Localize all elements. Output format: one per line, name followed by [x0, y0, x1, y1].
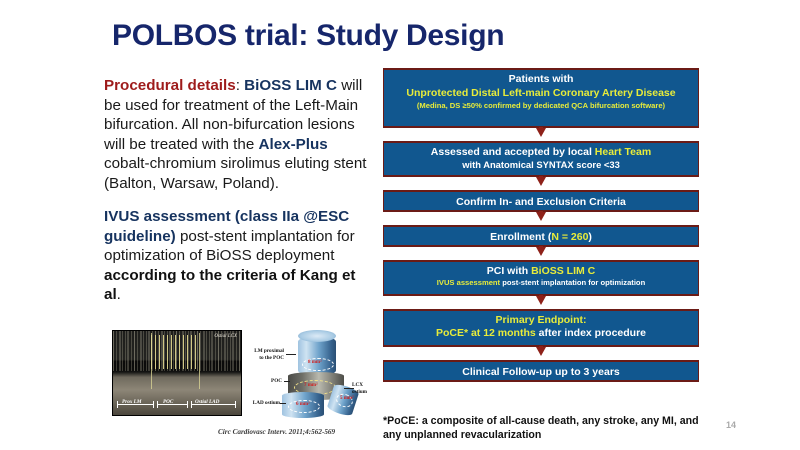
ivus-ruler-label-poc: POC [163, 399, 173, 405]
diagram-label-lcx-ostium: LCX ostium [352, 382, 378, 395]
flow-box-patients-with[interactable]: Patients with Unprotected Distal Left-ma… [383, 68, 699, 128]
slide-canvas: POLBOS trial: Study Design Procedural de… [0, 0, 800, 450]
paragraph-procedural-details: Procedural details: BiOSS LIM C will be … [104, 76, 372, 193]
flow-box-primary-endpoint[interactable]: Primary Endpoint: PoCE* at 12 months aft… [383, 309, 699, 347]
lumen-area-lad: 6 mm² [296, 402, 310, 407]
procedural-text-b: cobalt-chromium sirolimus eluting stent … [104, 155, 367, 192]
flow-line-primary-endpoint: Primary Endpoint: [388, 314, 694, 327]
label-separator: : [236, 77, 244, 94]
figure-citation: Circ Cardiovasc Interv. 2011;4:562-569 [218, 428, 388, 436]
flow-box-pci-bioss[interactable]: PCI with BiOSS LIM C IVUS assessment pos… [383, 260, 699, 296]
lumen-area-lcx: 5 mm² [340, 396, 354, 401]
figure-ivus-bifurcation: Ostial LCX Prox LM POC Ostial LAD 8 mm² [112, 330, 374, 450]
bifurcation-3d-diagram: 8 mm² 7 mm² 6 mm² 5 mm² LM proximalto th… [246, 330, 374, 420]
flow-arrow-5 [383, 296, 699, 309]
poce-text: PoCE* at 12 months [436, 327, 539, 339]
flow-line-pci: PCI with BiOSS LIM C [388, 265, 694, 278]
kang-criteria-emphasis: according to the criteria of Kang et al [104, 267, 355, 304]
enrollment-paren: ) [588, 231, 592, 243]
pci-device: BiOSS LIM C [531, 265, 595, 277]
lumen-area-poc: 7 mm² [304, 383, 318, 388]
flow-line-medina: (Medina, DS ≥50% confirmed by dedicated … [388, 101, 694, 111]
paragraph-ivus-assessment: IVUS assessment (class IIa @ESC guidelin… [104, 207, 372, 305]
flow-line-poce: PoCE* at 12 months after index procedure [388, 327, 694, 340]
ivus-longitudinal-image: Ostial LCX Prox LM POC Ostial LAD [112, 330, 242, 416]
ivus-ruler-label-prox-lm: Prox LM [122, 399, 141, 405]
flow-box-heart-team[interactable]: Assessed and accepted by local Heart Tea… [383, 141, 699, 177]
ivus-text-b: . [117, 286, 121, 303]
left-text-block: Procedural details: BiOSS LIM C will be … [104, 76, 372, 319]
ivus-stent-struts [151, 335, 199, 369]
page-number: 14 [726, 420, 736, 430]
procedural-details-label: Procedural details [104, 77, 236, 94]
flow-box-clinical-followup[interactable]: Clinical Follow-up up to 3 years [383, 360, 699, 382]
pci-text: PCI with [487, 265, 531, 277]
flow-box-confirm-criteria[interactable]: Confirm In- and Exclusion Criteria [383, 190, 699, 212]
ivus-ruler: Prox LM POC Ostial LAD [117, 400, 237, 412]
flow-arrow-1 [383, 128, 699, 141]
ivus-label-ostial-lcx: Ostial LCX [214, 334, 237, 339]
lumen-area-lm: 8 mm² [308, 360, 322, 365]
flow-line-syntax: with Anatomical SYNTAX score <33 [388, 159, 694, 171]
flow-arrow-4 [383, 247, 699, 260]
ivus-marker-line-2 [199, 333, 200, 389]
flow-line-assessed: Assessed and accepted by local Heart Tea… [388, 146, 694, 159]
ivus-detail-text: post-stent implantation for optimization [500, 278, 645, 287]
ivus-ruler-label-ostial-lad: Ostial LAD [195, 399, 219, 405]
flow-arrow-6 [383, 347, 699, 360]
diagram-label-lad-ostium: LAD ostium [244, 400, 280, 407]
flow-line-ivus: IVUS assessment post-stent implantation … [388, 278, 694, 288]
page-title: POLBOS trial: Study Design [112, 19, 504, 53]
footnote-poce-definition: *PoCE: a composite of all-cause death, a… [383, 414, 699, 442]
diagram-label-poc: POC [256, 378, 282, 385]
ivus-marker-line-1 [151, 333, 152, 389]
diagram-label-lm-proximal: LM proximalto the POC [246, 348, 284, 361]
flow-line-patients: Patients with [388, 73, 694, 86]
enrollment-count: N = 260 [551, 231, 588, 243]
poce-detail-text: after index procedure [539, 327, 646, 339]
flow-arrow-2 [383, 177, 699, 190]
heart-team-text: Heart Team [595, 146, 651, 158]
flow-arrow-3 [383, 212, 699, 225]
flow-line-confirm: Confirm In- and Exclusion Criteria [388, 196, 694, 209]
enrollment-text: Enrollment ( [490, 231, 551, 243]
device-bioss-lim-c: BiOSS LIM C [244, 77, 337, 94]
flow-line-unprotected-disease: Unprotected Distal Left-main Coronary Ar… [388, 86, 694, 101]
device-alex-plus: Alex-Plus [259, 136, 328, 153]
assessed-text: Assessed and accepted by local [431, 146, 595, 158]
flow-line-enrollment: Enrollment (N = 260) [388, 231, 694, 244]
ivus-assessment-text: IVUS assessment [437, 278, 500, 287]
flow-line-followup: Clinical Follow-up up to 3 years [388, 366, 694, 379]
study-design-flowchart: Patients with Unprotected Distal Left-ma… [383, 68, 699, 382]
flow-box-enrollment[interactable]: Enrollment (N = 260) [383, 225, 699, 247]
